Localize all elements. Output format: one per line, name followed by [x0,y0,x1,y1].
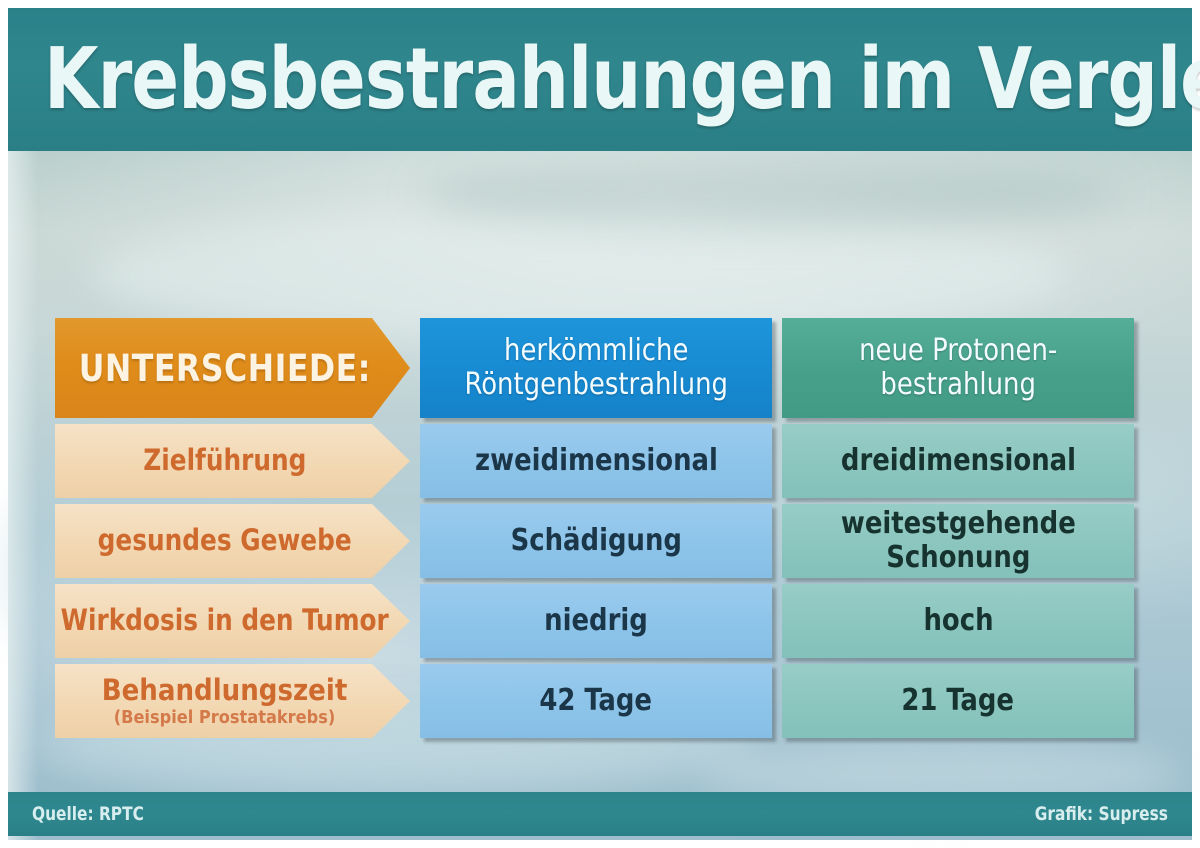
header-label-arrow: UNTERSCHIEDE: [55,318,410,418]
row-value-proton: hoch [782,584,1134,658]
row-value-conventional-text: 42 Tage [540,684,653,718]
row-value-conventional-text: zweidimensional [475,444,718,478]
infographic-canvas: Krebsbestrahlungen im Vergleich UNTERSCH… [0,0,1200,848]
row-value-conventional-text: niedrig [544,604,648,638]
row-value-proton-text: dreidimensional [840,444,1075,478]
row-sublabel-text: (Beispiel Prostatakrebs) [102,708,348,728]
row-value-conventional: 42 Tage [420,664,772,738]
row-label-arrow: Wirkdosis in den Tumor [55,584,410,658]
row-value-proton-text: 21 Tage [902,684,1015,718]
header-column-conventional: herkömmliche Röntgenbestrahlung [420,318,772,418]
row-value-conventional: niedrig [420,584,772,658]
page-title: Krebsbestrahlungen im Vergleich [44,37,1200,122]
row-value-proton: dreidimensional [782,424,1134,498]
row-label-text: Zielführung [143,445,306,477]
row-label-text: gesundes Gewebe [98,525,352,557]
header-column-proton-text: neue Protonen- bestrahlung [859,334,1057,401]
source-credit: Quelle: RPTC [32,803,144,825]
row-label-arrow: gesundes Gewebe [55,504,410,578]
row-value-conventional: Schädigung [420,504,772,578]
graphic-credit: Grafik: Supress [1035,803,1168,825]
header-column-proton: neue Protonen- bestrahlung [782,318,1134,418]
table-row: gesundes Gewebe Schädigung weitestgehend… [55,504,1130,578]
row-value-proton: weitestgehende Schonung [782,504,1134,578]
table-row: Behandlungszeit (Beispiel Prostatakrebs)… [55,664,1130,738]
row-value-proton-text: weitestgehende Schonung [841,507,1076,574]
table-row: Zielführung zweidimensional dreidimensio… [55,424,1130,498]
row-label-text: Behandlungszeit [102,673,348,707]
comparison-table: UNTERSCHIEDE: herkömmliche Röntgenbestra… [55,318,1130,744]
row-label-arrow: Behandlungszeit (Beispiel Prostatakrebs) [55,664,410,738]
title-bar: Krebsbestrahlungen im Vergleich [8,8,1192,151]
row-value-conventional-text: Schädigung [510,524,681,558]
row-value-proton-text: hoch [923,604,993,638]
row-label-text: Wirkdosis in den Tumor [60,605,388,637]
row-value-proton: 21 Tage [782,664,1134,738]
row-label-arrow: Zielführung [55,424,410,498]
header-label-text: UNTERSCHIEDE: [78,347,370,390]
row-value-conventional: zweidimensional [420,424,772,498]
table-row: Wirkdosis in den Tumor niedrig hoch [55,584,1130,658]
footer-bar: Quelle: RPTC Grafik: Supress [8,792,1192,836]
header-column-conventional-text: herkömmliche Röntgenbestrahlung [464,334,727,401]
table-header-row: UNTERSCHIEDE: herkömmliche Röntgenbestra… [55,318,1130,418]
